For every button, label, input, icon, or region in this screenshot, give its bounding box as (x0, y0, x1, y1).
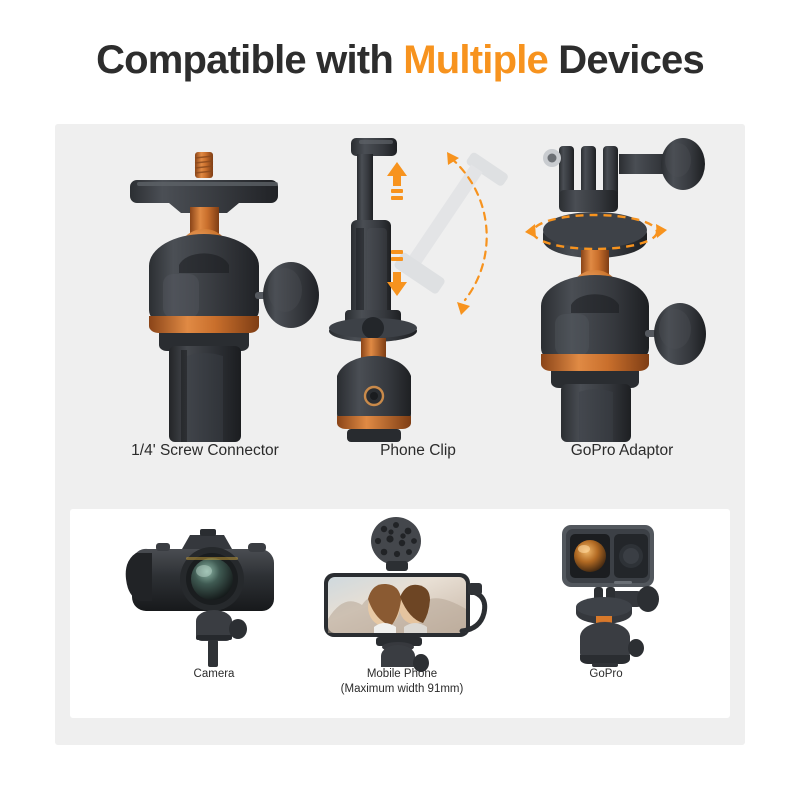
compatibility-panel: 1/4' Screw Connector (55, 124, 745, 745)
dslr-camera-on-tripod-illustration (104, 515, 324, 667)
page-title-highlight: Multiple (403, 38, 548, 82)
ball-head-screw-illustration (75, 124, 335, 442)
page-title-after: Devices (548, 38, 704, 82)
device-label-gopro: GoPro (506, 667, 706, 682)
device-label-camera: Camera (104, 667, 324, 682)
accessory-item-phone-clip: Phone Clip (323, 124, 513, 484)
accessory-label-screw-connector: 1/4' Screw Connector (75, 442, 335, 460)
gopro-adaptor-illustration (507, 124, 737, 442)
device-label-mobile-phone-line2: (Maximum width 91mm) (292, 682, 512, 697)
device-label-gopro-line1: GoPro (506, 667, 706, 682)
accessory-label-phone-clip: Phone Clip (323, 442, 513, 460)
phone-clip-illustration (323, 124, 513, 442)
accessory-item-gopro-adaptor: GoPro Adaptor (507, 124, 737, 484)
accessories-row: 1/4' Screw Connector (55, 124, 745, 484)
device-label-camera-line1: Camera (104, 667, 324, 682)
page-title-before: Compatible with (96, 38, 403, 82)
infographic-page: Compatible with Multiple Devices (0, 0, 800, 800)
device-label-mobile-phone-line1: Mobile Phone (292, 667, 512, 682)
device-item-camera: Camera (104, 509, 324, 718)
accessory-item-screw-connector: 1/4' Screw Connector (75, 124, 335, 484)
device-label-mobile-phone: Mobile Phone (Maximum width 91mm) (292, 667, 512, 697)
device-item-mobile-phone: Mobile Phone (Maximum width 91mm) (292, 509, 512, 718)
devices-card: Camera (70, 509, 730, 718)
phone-with-microphone-illustration (292, 515, 512, 667)
page-title: Compatible with Multiple Devices (0, 38, 800, 83)
device-item-gopro: GoPro (506, 509, 706, 718)
gopro-action-camera-illustration (506, 515, 706, 667)
accessory-label-gopro-adaptor: GoPro Adaptor (507, 442, 737, 460)
